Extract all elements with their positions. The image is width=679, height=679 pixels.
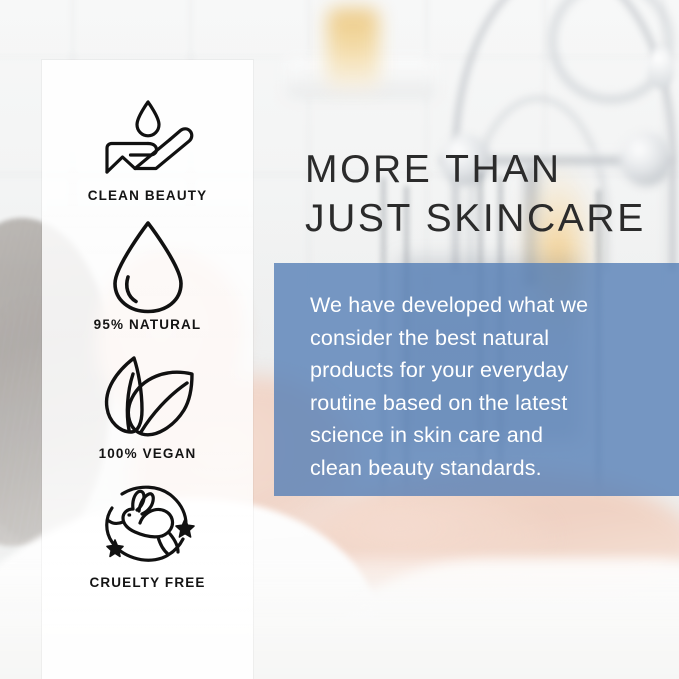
badge-label: 95% NATURAL — [94, 317, 202, 332]
headline-line-2: JUST SKINCARE — [305, 194, 679, 243]
headline-line-1: MORE THAN — [305, 145, 679, 194]
body-paragraph: We have developed what we consider the b… — [310, 289, 649, 484]
badge-label: CLEAN BEAUTY — [88, 188, 208, 203]
water-drop-icon — [106, 225, 190, 309]
body-line-4: routine based on the latest — [310, 387, 649, 420]
body-line-5: science in skin care and — [310, 419, 649, 452]
badge-100-vegan: 100% VEGAN — [42, 354, 253, 461]
body-line-1: We have developed what we — [310, 289, 649, 322]
badges-panel: CLEAN BEAUTY 95% NATURAL — [42, 60, 253, 679]
badge-95-natural: 95% NATURAL — [42, 225, 253, 332]
blue-text-panel: We have developed what we consider the b… — [274, 263, 679, 496]
infographic-canvas: CLEAN BEAUTY 95% NATURAL — [0, 0, 679, 679]
hand-with-drop-icon — [94, 96, 202, 180]
two-leaves-icon — [92, 354, 204, 438]
body-line-6: clean beauty standards. — [310, 452, 649, 485]
badge-cruelty-free: CRUELTY FREE — [42, 483, 253, 590]
badge-label: 100% VEGAN — [99, 446, 197, 461]
badge-label: CRUELTY FREE — [89, 575, 205, 590]
body-line-2: consider the best natural — [310, 322, 649, 355]
body-line-3: products for your everyday — [310, 354, 649, 387]
rabbit-in-circle-icon — [92, 483, 204, 567]
headline: MORE THAN JUST SKINCARE — [305, 145, 679, 243]
badge-clean-beauty: CLEAN BEAUTY — [42, 96, 253, 203]
